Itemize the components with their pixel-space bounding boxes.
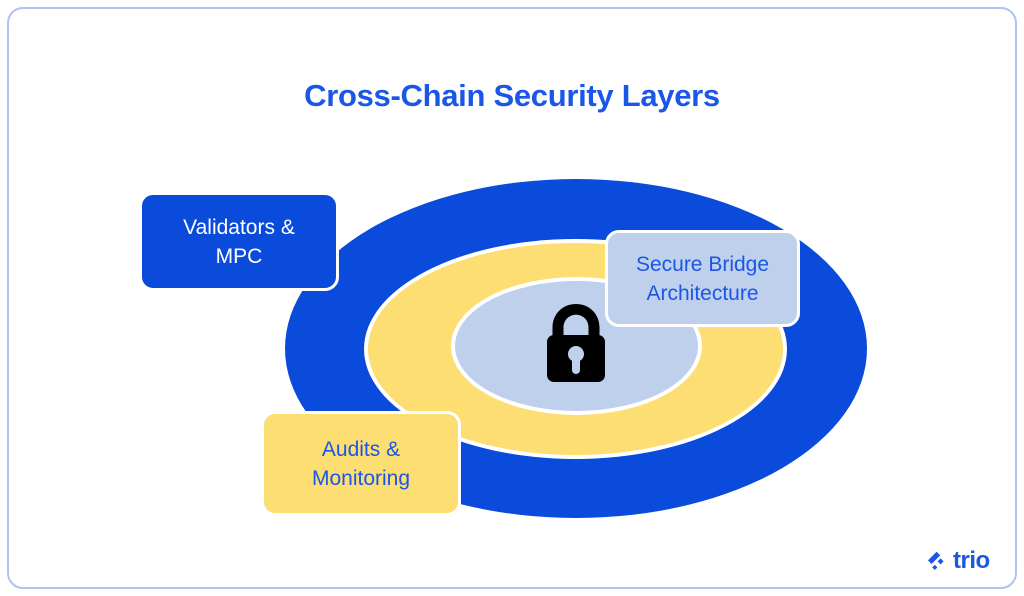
label-audits-monitoring[interactable]: Audits & Monitoring	[261, 411, 461, 516]
trio-diamond-mark-icon	[926, 551, 948, 572]
label-audits-monitoring-text: Audits & Monitoring	[312, 435, 410, 493]
label-secure-bridge-architecture-text: Secure Bridge Architecture	[636, 250, 769, 308]
lock-icon	[543, 302, 609, 384]
concentric-rings-diagram	[0, 0, 1024, 596]
trio-wordmark: trio	[953, 549, 990, 573]
label-validators-mpc[interactable]: Validators & MPC	[139, 192, 339, 291]
label-validators-mpc-text: Validators & MPC	[183, 213, 295, 271]
label-secure-bridge-architecture[interactable]: Secure Bridge Architecture	[605, 230, 800, 327]
brand-logo: trio	[926, 549, 990, 573]
slide-canvas: Cross-Chain Security Layers Validators &…	[0, 0, 1024, 596]
